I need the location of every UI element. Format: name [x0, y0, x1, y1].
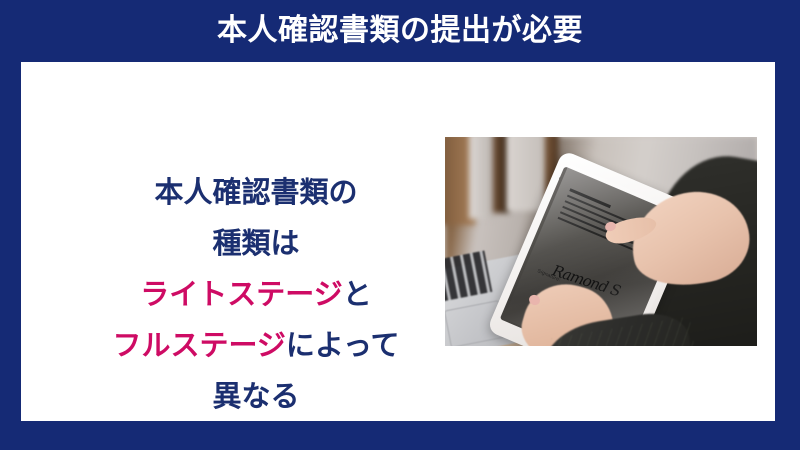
slide-title: 本人確認書類の提出が必要: [0, 10, 800, 52]
body-line-5: 異なる: [31, 372, 481, 423]
body-line-4-seg-2: によって: [286, 330, 400, 362]
body-line-2-seg-1: 種類は: [212, 228, 299, 260]
body-line-4-highlight: フルステージ: [112, 330, 285, 362]
tablet-signature-photo: Ramond S Signature:: [445, 137, 757, 346]
body-line-3-seg-2: と: [343, 279, 372, 311]
photo-shelf-binder-2: [469, 137, 495, 219]
slide-root: 本人確認書類の提出が必要 本人確認書類の 種類は ライトステージと フルステージ…: [0, 0, 800, 450]
body-line-4: フルステージによって: [31, 321, 481, 372]
body-line-1-seg-1: 本人確認書類の: [154, 177, 357, 209]
content-card: 本人確認書類の 種類は ライトステージと フルステージによって 異なる: [21, 62, 775, 421]
body-line-3-highlight: ライトステージ: [140, 279, 342, 311]
body-line-1: 本人確認書類の: [31, 168, 481, 219]
body-text-block: 本人確認書類の 種類は ライトステージと フルステージによって 異なる: [31, 168, 481, 423]
body-line-5-seg-1: 異なる: [212, 381, 299, 413]
body-line-3: ライトステージと: [31, 270, 481, 321]
body-line-2: 種類は: [31, 219, 481, 270]
